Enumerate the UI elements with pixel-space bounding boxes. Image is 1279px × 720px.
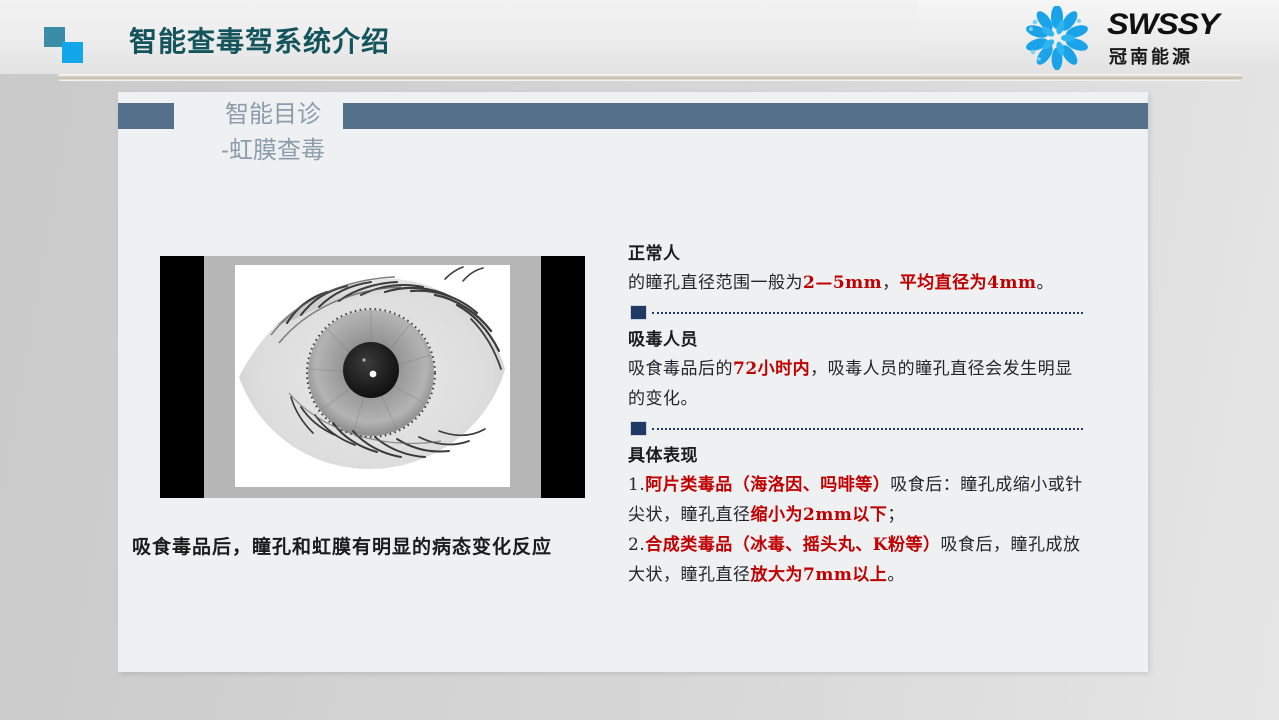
divider-marker-icon — [630, 305, 647, 320]
eye-iris-photo — [235, 265, 510, 487]
logo-wordmark: SWSSY — [1107, 8, 1219, 42]
text-run-highlighted: 放大为7mm以上 — [751, 565, 888, 585]
block-heading: 正常人 — [628, 240, 1083, 268]
divider-dotted-line — [652, 428, 1083, 430]
company-logo: SWSSY 冠南能源 — [1015, 6, 1265, 70]
section-divider-1 — [628, 302, 1083, 324]
text-run: 吸食毒品后的 — [628, 359, 733, 379]
divider-marker-icon — [630, 421, 647, 436]
text-run-highlighted: 平均直径为4mm — [900, 273, 1037, 293]
section-title-line1: 智能目诊 — [225, 101, 321, 128]
slide-content-panel: 智能目诊 -虹膜查毒 — [118, 92, 1148, 672]
block-body: 的瞳孔直径范围一般为2—5mm，平均直径为4mm。 — [628, 268, 1083, 298]
decorative-square-light-icon — [62, 42, 83, 63]
section-title: 智能目诊 -虹膜查毒 — [198, 97, 348, 169]
text-run-highlighted: 72小时内 — [733, 359, 810, 379]
text-run-highlighted: 阿片类毒品（海洛因、吗啡等） — [645, 475, 890, 495]
content-block-normal-person: 正常人 的瞳孔直径范围一般为2—5mm，平均直径为4mm。 — [628, 240, 1083, 298]
divider-dotted-line — [652, 312, 1083, 314]
page-title: 智能查毒驾系统介绍 — [129, 20, 390, 60]
block-heading: 吸毒人员 — [628, 326, 1083, 354]
content-block-drug-user: 吸毒人员 吸食毒品后的72小时内，吸毒人员的瞳孔直径会发生明显的变化。 — [628, 326, 1083, 414]
text-run: ， — [882, 273, 900, 293]
text-run: 的瞳孔直径范围一般为 — [628, 273, 803, 293]
text-run: ； — [887, 505, 905, 525]
text-run: 。 — [1036, 273, 1054, 293]
text-run: 1. — [628, 475, 645, 495]
section-title-line2: -虹膜查毒 — [198, 133, 348, 169]
letterbox-left — [160, 256, 204, 498]
text-run-highlighted: 2—5mm — [803, 273, 882, 293]
text-run: 2. — [628, 535, 645, 555]
text-run: 。 — [887, 565, 905, 585]
section-divider-2 — [628, 418, 1083, 440]
slide-root: 智能查毒驾系统介绍 — [0, 0, 1279, 720]
header-divider-rule — [57, 74, 1242, 81]
logo-subtext: 冠南能源 — [1109, 43, 1193, 69]
block-heading: 具体表现 — [628, 442, 1083, 470]
letterbox-right — [541, 256, 585, 498]
section-bar-right — [343, 103, 1148, 129]
text-run-highlighted: 缩小为2mm以下 — [751, 505, 888, 525]
list-item: 2.合成类毒品（冰毒、摇头丸、K粉等）吸食后，瞳孔成放大状，瞳孔直径放大为7mm… — [628, 530, 1083, 590]
text-run-highlighted: 合成类毒品（冰毒、摇头丸、K粉等） — [645, 535, 940, 555]
content-block-manifestations: 具体表现 1.阿片类毒品（海洛因、吗啡等）吸食后：瞳孔成缩小或针尖状，瞳孔直径缩… — [628, 442, 1083, 590]
block-body: 吸食毒品后的72小时内，吸毒人员的瞳孔直径会发生明显的变化。 — [628, 354, 1083, 414]
section-bar-left — [118, 103, 174, 129]
eye-figure-caption: 吸食毒品后，瞳孔和虹膜有明显的病态变化反应 — [132, 532, 632, 559]
swssy-petal-mark-icon — [1015, 6, 1099, 70]
text-column: 正常人 的瞳孔直径范围一般为2—5mm，平均直径为4mm。 吸毒人员 吸食毒品后… — [628, 240, 1083, 592]
eye-figure — [160, 256, 585, 498]
list-item: 1.阿片类毒品（海洛因、吗啡等）吸食后：瞳孔成缩小或针尖状，瞳孔直径缩小为2mm… — [628, 470, 1083, 530]
